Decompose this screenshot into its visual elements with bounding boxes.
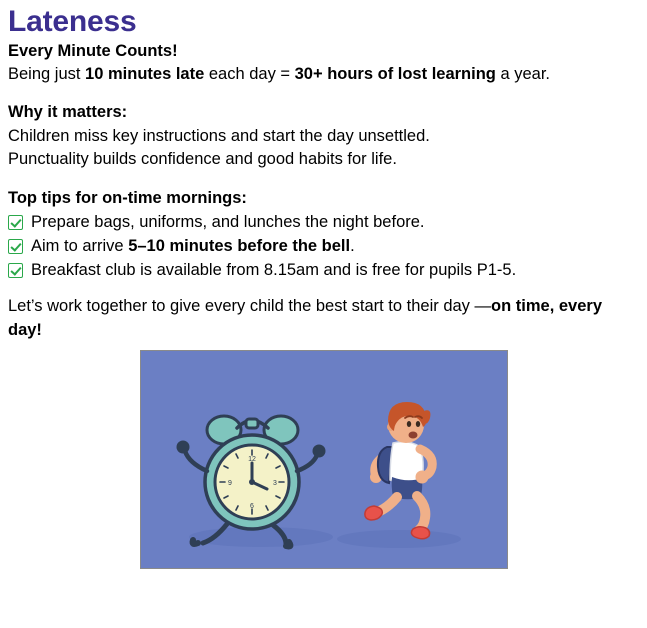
intro-line: Being just 10 minutes late each day = 30… bbox=[8, 63, 639, 86]
spacer-3 bbox=[8, 282, 639, 295]
page-title: Lateness bbox=[8, 6, 647, 38]
svg-text:6: 6 bbox=[250, 503, 254, 510]
spacer-1 bbox=[8, 86, 639, 101]
intro-part3: a year. bbox=[496, 65, 550, 83]
intro-part1: Being just bbox=[8, 65, 85, 83]
tip-text-2: Aim to arrive 5–10 minutes before the be… bbox=[31, 235, 355, 258]
spacer-2 bbox=[8, 172, 639, 187]
subtitle: Every Minute Counts! bbox=[8, 40, 639, 63]
tip-2-part1: Aim to arrive bbox=[31, 237, 128, 255]
why-line-1: Children miss key instructions and start… bbox=[8, 125, 639, 148]
illustration-container: 12 3 6 9 bbox=[0, 350, 647, 569]
intro-part2: each day = bbox=[204, 65, 294, 83]
green-check-box-icon bbox=[8, 263, 23, 278]
tip-3-part1: Breakfast club is available from 8.15am … bbox=[31, 261, 516, 279]
list-item: Breakfast club is available from 8.15am … bbox=[8, 259, 639, 282]
svg-text:9: 9 bbox=[228, 480, 232, 487]
why-line-2: Punctuality builds confidence and good h… bbox=[8, 148, 639, 171]
closing-part1: Let’s work together to give every child … bbox=[8, 297, 491, 315]
tip-2-part2: . bbox=[350, 237, 355, 255]
list-item: Aim to arrive 5–10 minutes before the be… bbox=[8, 235, 639, 258]
intro-bold-30-hours: 30+ hours of lost learning bbox=[295, 65, 496, 83]
green-check-box-icon bbox=[8, 239, 23, 254]
green-check-box-icon bbox=[8, 215, 23, 230]
tip-2-bold: 5–10 minutes before the bell bbox=[128, 237, 350, 255]
closing-paragraph: Let’s work together to give every child … bbox=[8, 295, 621, 342]
tip-text-3: Breakfast club is available from 8.15am … bbox=[31, 259, 516, 282]
document-body: Every Minute Counts! Being just 10 minut… bbox=[8, 40, 639, 343]
intro-bold-10-minutes: 10 minutes late bbox=[85, 65, 204, 83]
tip-text-1: Prepare bags, uniforms, and lunches the … bbox=[31, 211, 425, 234]
document-page: Lateness Every Minute Counts! Being just… bbox=[0, 6, 647, 628]
list-item: Prepare bags, uniforms, and lunches the … bbox=[8, 211, 639, 234]
tips-heading: Top tips for on-time mornings: bbox=[8, 187, 639, 210]
svg-text:3: 3 bbox=[273, 480, 277, 487]
why-heading: Why it matters: bbox=[8, 101, 639, 124]
tip-1-part1: Prepare bags, uniforms, and lunches the … bbox=[31, 213, 425, 231]
running-boy-with-alarm-clock-illustration: 12 3 6 9 bbox=[140, 350, 508, 569]
